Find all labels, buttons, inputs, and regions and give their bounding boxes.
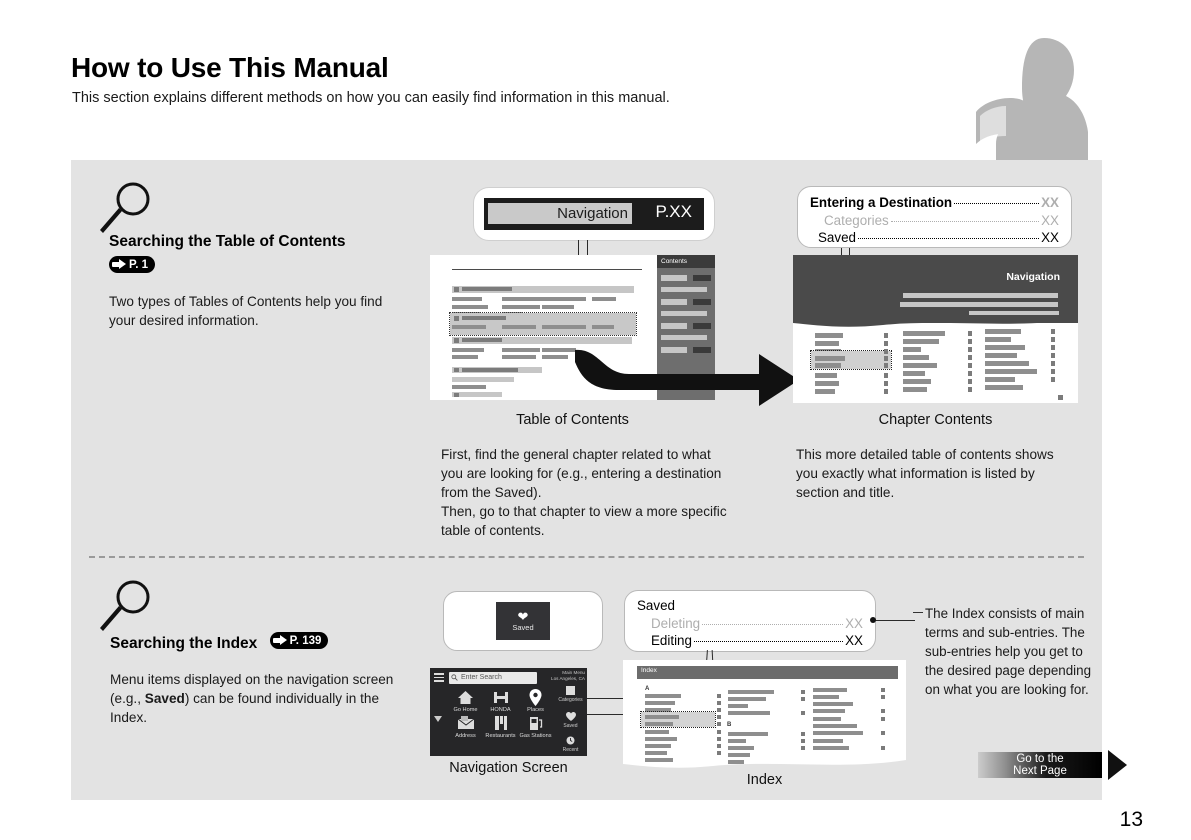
index-alpha-mark: B: [727, 722, 731, 728]
index-entry-label: Deleting: [651, 615, 700, 633]
navigation-strip: Navigation P.XX: [484, 198, 704, 230]
toc-entry-label: Saved: [818, 229, 856, 247]
mock-caption-chapter-contents: Chapter Contents: [793, 412, 1078, 428]
index-mock-header-title: Index: [641, 667, 657, 674]
toc-entry-page: XX: [1041, 194, 1059, 212]
page-badge-toc-text: P. 1: [129, 259, 148, 271]
index-entry-row: Saved: [637, 597, 863, 615]
page-title: How to Use This Manual: [71, 52, 389, 84]
nav-right-item-saved[interactable]: Saved: [554, 712, 587, 729]
leader-dots: [858, 238, 1039, 239]
heart-icon: ❤: [518, 611, 529, 622]
index-entry-row: Editing XX: [637, 632, 863, 650]
more-detailed-contents-arrow: [573, 340, 801, 412]
note-leader-dash: [913, 612, 923, 613]
restaurant-icon: [483, 713, 518, 733]
section-divider: [89, 556, 1084, 558]
toc-mock-sidebar-header: Contents: [657, 255, 715, 268]
magnifier-icon: [99, 578, 155, 636]
nav-right-item-label: Saved: [563, 723, 577, 729]
section-body-right: This more detailed table of contents sho…: [796, 445, 1076, 502]
arrow-right-icon: [112, 259, 127, 270]
navigation-strip-page: P.XX: [655, 202, 692, 222]
nav-tile-restaurants[interactable]: Restaurants: [483, 713, 518, 739]
manual-page: How to Use This Manual This section expl…: [0, 0, 1191, 840]
index-mock-header: [637, 666, 898, 679]
nav-right-item-label: Recent: [563, 747, 579, 753]
nav-tile-label: Gas Stations: [518, 733, 553, 739]
page-badge-index[interactable]: P. 139: [270, 632, 329, 649]
next-page-line2: Next Page: [1013, 765, 1067, 777]
nav-left-arrow-icon[interactable]: [434, 716, 442, 722]
arrow-right-icon: [273, 635, 288, 646]
navigation-tile-grid: Go Home HONDA Places Address: [448, 687, 554, 739]
section-heading-toc: Searching the Table of Contents: [109, 233, 346, 251]
toc-entry-label: Categories: [824, 212, 889, 230]
toc-entry-row: Entering a Destination XX: [810, 194, 1059, 212]
nav-right-item-label: Categories: [558, 697, 582, 703]
mock-caption-index: Index: [623, 772, 906, 788]
page-subtitle: This section explains different methods …: [72, 90, 670, 106]
chapter-contents-mock: Navigation: [793, 255, 1078, 403]
next-page-button[interactable]: Go to the Next Page: [978, 752, 1102, 778]
navigation-right-column: Categories Saved Recent: [554, 668, 587, 756]
nav-tile-address[interactable]: Address: [448, 713, 483, 739]
search-input-placeholder: Enter Search: [461, 674, 502, 681]
section-body-left: First, find the general chapter related …: [441, 445, 731, 540]
leader-dots: [694, 641, 843, 642]
honda-logo-icon: [483, 687, 518, 707]
section-body-toc: Two types of Tables of Contents help you…: [109, 292, 399, 330]
next-page-line1: Go to the: [1013, 753, 1067, 765]
index-entry-page: XX: [845, 632, 863, 650]
section-heading-index: Searching the Index P. 139: [110, 632, 328, 653]
saved-tile-callout: ❤ Saved: [443, 591, 603, 651]
index-entry-row: Deleting XX: [637, 615, 863, 633]
nav-tile-places[interactable]: Places: [518, 687, 553, 713]
page-badge-toc[interactable]: P. 1: [109, 256, 155, 277]
index-entries-callout: Saved Deleting XX Editing XX: [624, 590, 876, 652]
saved-tile-label: Saved: [512, 623, 533, 632]
saved-icon: [554, 712, 587, 723]
triangle-right-icon[interactable]: [1108, 750, 1127, 780]
navigation-screen-mock[interactable]: Enter Search Main MenuLos Angeles, CA Go…: [430, 668, 587, 756]
toc-entry-page: XX: [1041, 229, 1059, 247]
hamburger-menu-icon[interactable]: [434, 673, 444, 682]
search-input[interactable]: Enter Search: [449, 672, 537, 684]
home-icon: [448, 687, 483, 707]
more-detailed-contents-label: More Detailed Contents: [55, 22, 195, 56]
section-body-index: Menu items displayed on the navigation s…: [110, 670, 400, 727]
magnifier-icon: [99, 180, 155, 238]
search-icon: [451, 674, 458, 681]
toc-entry-row: Categories XX: [810, 212, 1059, 230]
index-entry-page: XX: [845, 615, 863, 633]
toc-entry-label: Entering a Destination: [810, 194, 952, 212]
nav-tile-honda[interactable]: HONDA: [483, 687, 518, 713]
nav-tile-go-home[interactable]: Go Home: [448, 687, 483, 713]
nav-right-item-recent[interactable]: Recent: [554, 736, 587, 753]
toc-entry-row: Saved XX: [810, 229, 1059, 247]
map-pin-icon: [518, 687, 553, 707]
page-number: 13: [1120, 808, 1143, 832]
page-badge-index-text: P. 139: [290, 635, 322, 647]
section-body-index-bold: Saved: [145, 691, 185, 706]
nav-tile-label: Address: [448, 733, 483, 739]
nav-right-item-categories[interactable]: Categories: [554, 686, 587, 703]
toc-entry-page: XX: [1041, 212, 1059, 230]
section-heading-toc-text: Searching the Table of Contents: [109, 233, 346, 250]
navigation-strip-callout: Navigation P.XX: [474, 188, 714, 240]
leader-dots: [702, 624, 843, 625]
leader-dots: [891, 221, 1039, 222]
categories-icon: [554, 686, 587, 697]
nav-tile-gas-stations[interactable]: Gas Stations: [518, 713, 553, 739]
chapter-mock-header-title: Navigation: [1006, 271, 1060, 283]
leader-dots: [954, 203, 1039, 204]
index-entry-label: Editing: [651, 632, 692, 650]
section-heading-index-text: Searching the Index: [110, 635, 257, 652]
index-entry-label: Saved: [637, 597, 675, 615]
index-mock: Index A B: [623, 660, 906, 772]
address-icon: [448, 713, 483, 733]
nav-tile-label: Restaurants: [483, 733, 518, 739]
toc-entries-callout: Entering a Destination XX Categories XX …: [797, 186, 1072, 248]
person-reading-book-icon: [966, 32, 1096, 162]
index-note: The Index consists of main terms and sub…: [925, 604, 1097, 699]
connector-line: [873, 620, 915, 621]
gas-pump-icon: [518, 713, 553, 733]
mock-caption-navigation-screen: Navigation Screen: [430, 760, 587, 776]
navigation-strip-label: Navigation: [557, 203, 628, 224]
recent-icon: [554, 736, 587, 747]
saved-tile[interactable]: ❤ Saved: [496, 602, 550, 640]
connector-dot: [870, 617, 876, 623]
mock-caption-table-of-contents: Table of Contents: [430, 412, 715, 428]
index-alpha-mark: A: [645, 686, 649, 692]
